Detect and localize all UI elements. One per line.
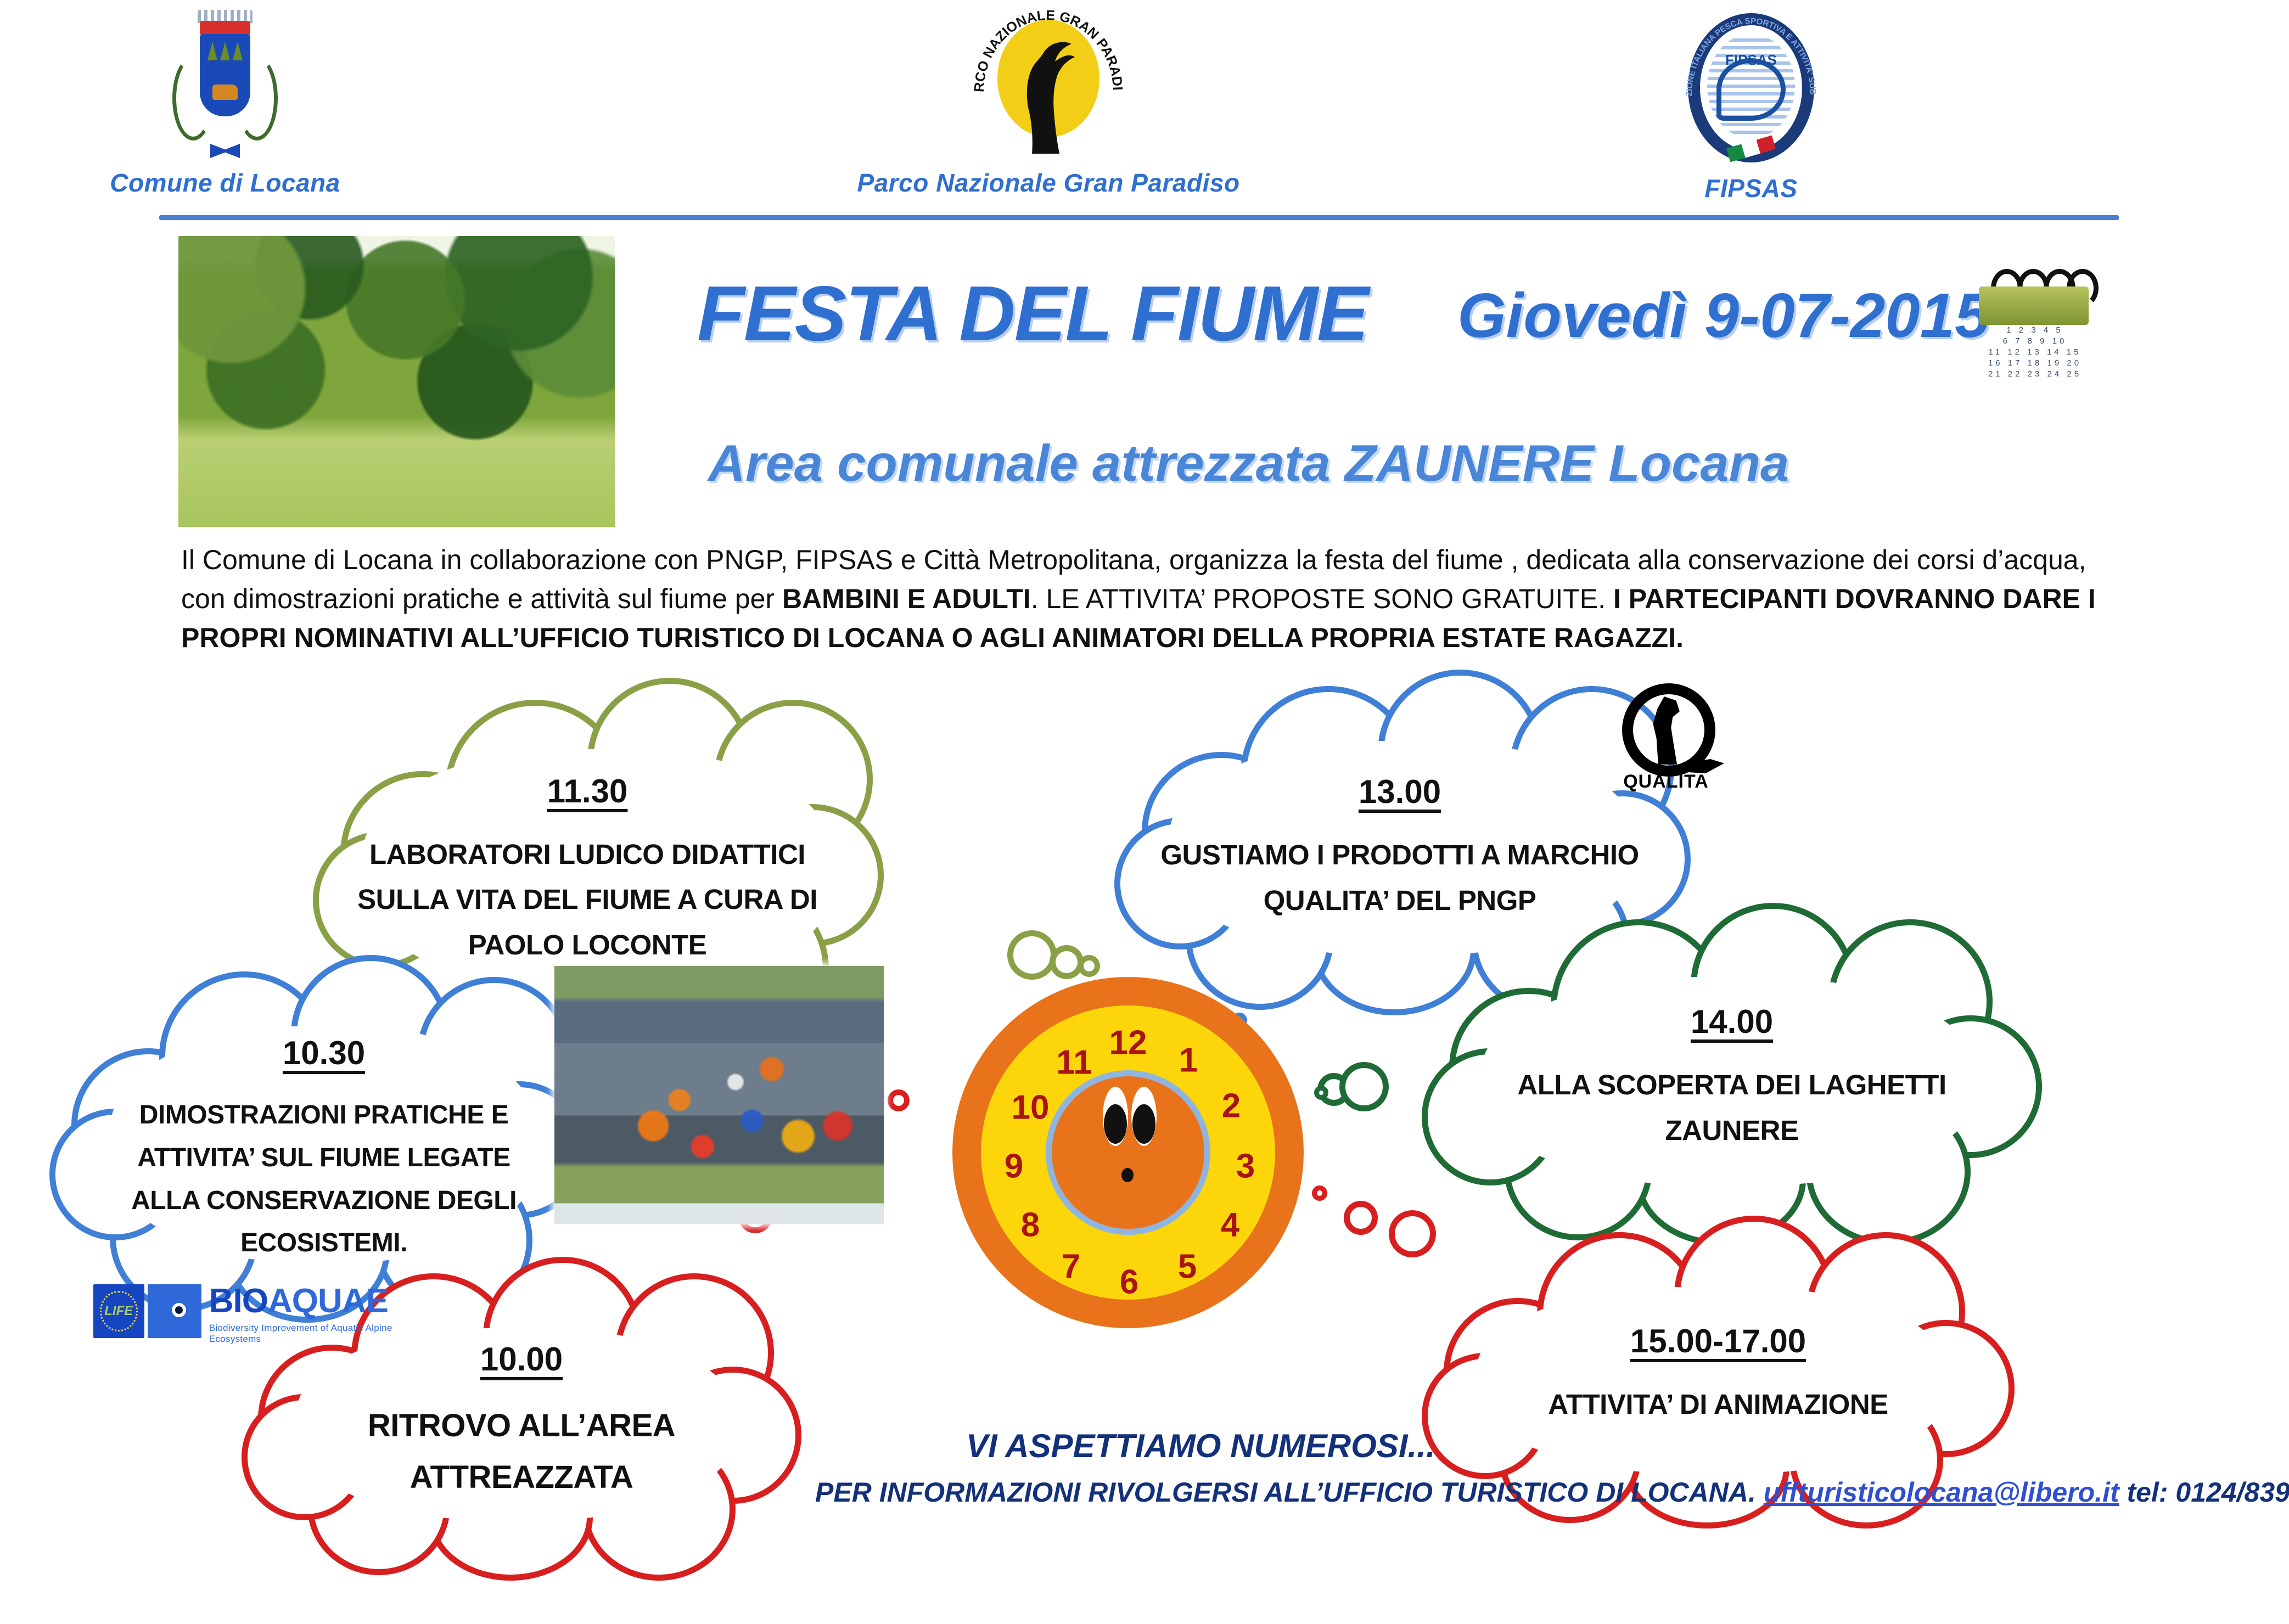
schedule-time-1300: 13.00 [1359, 773, 1441, 811]
footer-invitation: VI ASPETTIAMO NUMEROSI... [966, 1427, 1435, 1465]
footer-info-prefix: PER INFORMAZIONI RIVOLGERSI ALL’UFFICIO … [815, 1477, 1764, 1508]
schedule-desc-1500-1700: ATTIVITA’ DI ANIMAZIONE [1548, 1382, 1888, 1428]
poster-canvas: Comune di Locana PARCO NAZIONALE GRAN PA… [0, 0, 2289, 1624]
svg-text:FIPSAS: FIPSAS [1725, 52, 1777, 68]
schedule-desc-1400: ALLA SCOPERTA DEI LAGHETTI ZAUNERE [1517, 1063, 1946, 1153]
calendar-icon: 1 2 3 4 56 7 8 9 1011 12 13 14 1516 17 1… [1968, 258, 2100, 395]
clock-num: 8 [1021, 1206, 1040, 1245]
schedule-time-1500-1700: 15.00-17.00 [1630, 1322, 1806, 1360]
thought-bubble [1344, 1201, 1378, 1235]
clock-face-eye-left [1103, 1087, 1128, 1146]
clock-num: 4 [1221, 1206, 1239, 1245]
clock-num: 7 [1062, 1247, 1080, 1286]
bioaquae-name-aquae: AQUAE [268, 1282, 388, 1320]
schedule-line: ALLA SCOPERTA DEI LAGHETTI [1517, 1063, 1946, 1108]
logo-comune-di-locana: Comune di Locana [110, 5, 340, 198]
svg-text:FEDERAZIONE ITALIANA PESCA SPO: FEDERAZIONE ITALIANA PESCA SPORTIVA E AT… [1680, 5, 1817, 96]
thought-bubble [1312, 1185, 1327, 1201]
fipsas-badge-icon: FEDERAZIONE ITALIANA PESCA SPORTIVA E AT… [1680, 5, 1822, 170]
eu-life-flag-icon: LIFE [93, 1284, 144, 1338]
schedule-line: RITROVO ALL’AREA [368, 1400, 675, 1452]
schedule-desc-1030: DIMOSTRAZIONI PRATICHE E ATTIVITA’ SUL F… [131, 1094, 517, 1265]
clock-face-nose [1121, 1168, 1134, 1182]
schedule-line: LABORATORI LUDICO DIDATTICI [357, 832, 817, 878]
clock-num: 12 [1109, 1024, 1147, 1063]
schedule-line: ATTIVITA’ SUL FIUME LEGATE [131, 1137, 517, 1179]
schedule-line: DIMOSTRAZIONI PRATICHE E [131, 1094, 517, 1137]
schedule-line: GUSTIAMO I PRODOTTI A MARCHIO [1160, 833, 1639, 878]
clock-illustration: 12 1 2 3 4 5 6 7 8 9 10 11 [952, 977, 1304, 1328]
logo-caption-fipsas: FIPSAS [1608, 173, 1894, 203]
logo-caption-pngp: Parco Nazionale Gran Paradiso [851, 168, 1246, 198]
comune-crest-icon [165, 5, 285, 165]
contact-phone: tel: 0124/839034 [2119, 1477, 2289, 1508]
schedule-line: ATTIVITA’ DI ANIMAZIONE [1548, 1382, 1888, 1428]
schedule-line: ZAUNERE [1517, 1108, 1946, 1154]
schedule-line: SULLA VITA DEL FIUME A CURA DI [357, 877, 817, 923]
intro-part2: . LE ATTIVITA’ PROPOSTE SONO GRATUITE. [1031, 583, 1613, 614]
clock-num: 11 [1056, 1043, 1092, 1082]
clock-num: 5 [1178, 1247, 1197, 1286]
clock-num: 6 [1120, 1263, 1138, 1302]
clock-face-eye-right [1131, 1087, 1157, 1146]
bioaquae-name-bio: BIO [209, 1282, 268, 1320]
qualita-logo: QUALITA [1617, 683, 1737, 793]
thought-bubble [1314, 1086, 1328, 1100]
logo-parco-nazionale-gran-paradiso: PARCO NAZIONALE GRAN PARADISO Parco Nazi… [851, 0, 1246, 198]
schedule-time-1130: 11.30 [547, 772, 628, 810]
ibex-silhouette-icon [1010, 35, 1087, 156]
thought-bubble [1339, 1062, 1389, 1111]
thought-bubble [1078, 955, 1100, 977]
schedule-line: ATTREAZZATA [368, 1452, 675, 1503]
contact-email-link[interactable]: uffturisticolocana@libero.it [1764, 1477, 2119, 1508]
logo-fipsas: FEDERAZIONE ITALIANA PESCA SPORTIVA E AT… [1608, 5, 1894, 203]
schedule-desc-1000: RITROVO ALL’AREA ATTREAZZATA [368, 1400, 675, 1503]
header-divider [159, 215, 2119, 220]
clock-num: 9 [1005, 1147, 1023, 1186]
clock-num: 3 [1236, 1147, 1255, 1186]
logo-caption-comune: Comune di Locana [110, 168, 340, 198]
footer-contact-line: PER INFORMAZIONI RIVOLGERSI ALL’UFFICIO … [815, 1476, 2289, 1508]
river-activity-photo [554, 966, 884, 1224]
pngp-ibex-icon: PARCO NAZIONALE GRAN PARADISO [966, 0, 1131, 165]
bioaquae-logo: LIFE BIOAQUAE Biodiversity Improvement o… [93, 1284, 434, 1367]
intro-paragraph: Il Comune di Locana in collaborazione co… [181, 541, 2119, 658]
thought-bubble [1007, 930, 1057, 980]
event-location: Area comunale attrezzata ZAUNERE Locana [708, 434, 1789, 493]
bioaquae-tagline: Biodiversity Improvement of Aquatic Alpi… [209, 1323, 434, 1345]
clock-num: 10 [1012, 1088, 1050, 1127]
schedule-cloud-1400: 14.00 ALLA SCOPERTA DEI LAGHETTI ZAUNERE [1405, 900, 2058, 1251]
thought-bubble [1389, 1210, 1436, 1257]
fipsas-ring-text: FEDERAZIONE ITALIANA PESCA SPORTIVA E AT… [1680, 5, 1822, 170]
clock-num: 2 [1222, 1087, 1241, 1126]
schedule-line: ALLA CONSERVAZIONE DEGLI [131, 1179, 517, 1222]
schedule-time-1030: 10.30 [283, 1034, 365, 1072]
park-photo [178, 236, 615, 527]
schedule-time-1000: 10.00 [480, 1340, 563, 1378]
schedule-time-1400: 14.00 [1691, 1003, 1773, 1041]
thought-bubble [888, 1089, 910, 1111]
bioaquae-fish-icon [148, 1284, 201, 1338]
qualita-label: QUALITA [1617, 771, 1715, 793]
event-date: Giovedì 9-07-2015 [1457, 280, 1990, 352]
page-title: FESTA DEL FIUME [697, 269, 1368, 359]
clock-num: 1 [1179, 1041, 1198, 1080]
intro-bold1: BAMBINI E ADULTI [782, 583, 1031, 614]
